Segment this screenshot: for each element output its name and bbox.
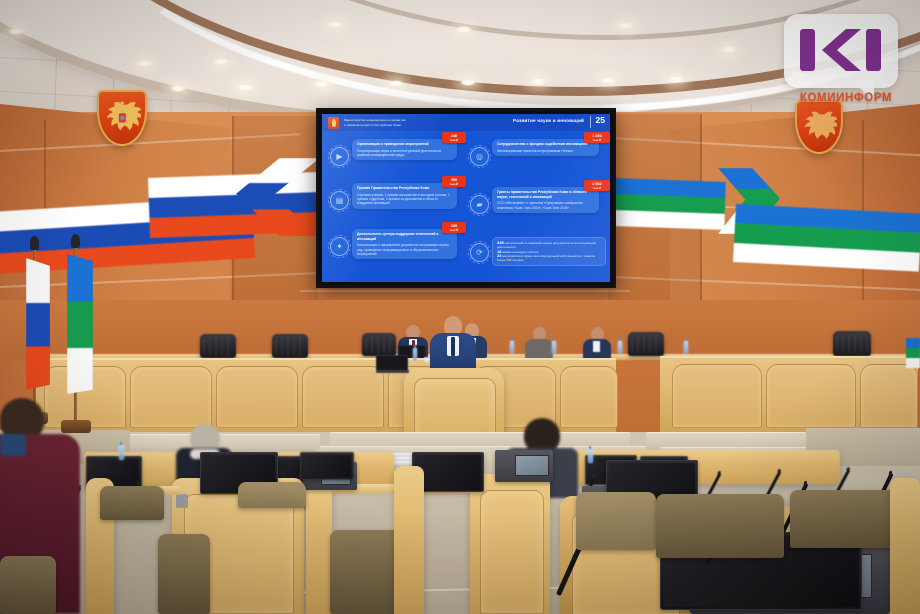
slide-card: Премия Правительства Республики Коми 3 п… <box>352 183 457 209</box>
person-head <box>524 418 560 452</box>
ceiling-downlight <box>213 58 229 65</box>
card-heading: Сотрудничество с фондом содействия иннов… <box>497 142 595 147</box>
ceiling-downlight <box>237 84 253 91</box>
conference-mic-unit <box>495 450 553 482</box>
slide-card: Организация и проведение мероприятий Поп… <box>352 139 457 160</box>
card-amount-badge: 100 тыс.₽ <box>442 222 466 233</box>
session-hall-photo: Министерство экономического развития и п… <box>0 0 920 614</box>
double-headed-eagle-icon <box>801 107 838 144</box>
presidium-panel <box>130 366 212 428</box>
stat-number: 22 <box>497 253 501 258</box>
card-amount-badge: 1 500 тыс.₽ <box>584 132 610 143</box>
megaphone-icon: ▶ <box>330 147 349 166</box>
delegate-seat <box>158 534 210 614</box>
ceiling-downlight <box>460 79 476 86</box>
card-subtext: Популяризация науки и интеллектуальной д… <box>357 149 453 158</box>
stat-tail: человек <box>512 258 523 262</box>
presidium-panel <box>766 364 856 428</box>
slide: Министерство экономического развития и п… <box>322 114 610 282</box>
ceiling-downlight <box>170 85 186 92</box>
slide-page-number: 25 <box>596 115 605 125</box>
wall-seam <box>300 290 630 292</box>
double-headed-eagle-icon <box>103 97 142 136</box>
people-icon: ✦ <box>330 237 349 256</box>
badge-unit: тыс.₽ <box>586 138 608 142</box>
slide-title: Развитие науки и инноваций <box>513 118 584 123</box>
slide-body: ▶ Организация и проведение мероприятий П… <box>322 131 610 282</box>
water-glass <box>424 357 429 362</box>
slide-card: Деятельность центра поддержки технологий… <box>352 229 457 259</box>
delegate-seat <box>0 556 56 614</box>
ceiling-downlight <box>618 22 634 29</box>
foreground-desk-panel <box>480 490 544 614</box>
slide-header: Министерство экономического развития и п… <box>322 114 610 131</box>
painted-flag-of-komi-left-seg <box>612 178 726 230</box>
water-bottle <box>588 449 593 463</box>
ministry-logo-icon <box>328 117 339 129</box>
aisle-divider-post <box>394 466 424 614</box>
presidium-person <box>524 327 554 357</box>
stat-number: 335 <box>497 240 504 245</box>
coins-icon: ◎ <box>470 147 489 166</box>
person-torso <box>525 339 553 359</box>
ceiling-downlight <box>327 21 343 28</box>
ceiling-downlight <box>456 26 472 33</box>
slide-card: Гранты правительства Республики Коми в о… <box>492 187 599 213</box>
flag-of-russia-cloth <box>26 258 50 390</box>
presidium-panel <box>860 364 918 428</box>
speaker-at-rostrum <box>430 316 476 372</box>
badge-unit: тыс.₽ <box>586 186 608 190</box>
slide-card: Сотрудничество с фондом содействия иннов… <box>492 139 599 156</box>
stat-row: 22 мероприятия в сфере интеллектуальной … <box>497 254 601 263</box>
delegate-seat <box>238 482 306 508</box>
watermark: КОМИИНФОРМ <box>784 14 908 110</box>
support-center-icon: ⟳ <box>470 243 489 262</box>
flagpole-finial-icon <box>30 236 39 250</box>
presidium-chair <box>272 334 308 358</box>
card-heading: Премия Правительства Республики Коми <box>357 186 453 191</box>
presidium-chair <box>362 333 396 356</box>
presidium-panel <box>672 364 762 428</box>
ceiling-downlight <box>600 77 616 84</box>
delegate-monitor <box>300 452 354 480</box>
ceiling-downlight <box>137 60 153 67</box>
card-subtext: Консультации и оформление документов на … <box>357 243 453 256</box>
card-amount-badge: 300 тыс.₽ <box>442 176 466 187</box>
delegate-seat <box>576 492 656 550</box>
water-bottle <box>684 341 688 354</box>
graduation-cap-icon: ▰ <box>470 195 489 214</box>
water-bottle <box>552 341 556 354</box>
ceiling-downlight <box>721 46 737 53</box>
presidium-person <box>582 327 612 357</box>
painted-flag-of-komi-right-seg <box>733 204 920 272</box>
card-subtext: 3 премии ученым, 1 премия аспирантам и м… <box>357 193 453 206</box>
card-heading: Гранты правительства Республики Коми в о… <box>497 190 595 199</box>
badge-unit: тыс.₽ <box>444 228 464 232</box>
delegate-seat <box>100 486 164 520</box>
ceiling-downlight <box>530 78 546 85</box>
flag-of-komi-small <box>906 338 920 368</box>
watermark-brand: КОМИИНФОРМ <box>788 92 904 104</box>
water-bottle <box>510 341 514 354</box>
ceiling-downlight <box>314 81 330 88</box>
badge-unit: тыс.₽ <box>444 182 464 186</box>
ceiling-downlight <box>8 28 24 35</box>
aisle-divider-post <box>890 478 920 614</box>
conference-unit-display <box>515 455 549 476</box>
desk-power-outlet <box>176 494 188 508</box>
ceiling-downlight <box>388 80 404 87</box>
presidium-panel <box>302 366 384 428</box>
person-shirt <box>593 341 600 352</box>
presidium-chair <box>833 331 871 356</box>
delegate-seat <box>656 494 784 558</box>
flagpole-finial-icon <box>71 234 80 248</box>
dais-step <box>330 432 630 447</box>
stat-row: 335 консультаций по правовой охране резу… <box>497 241 601 250</box>
ministry-name: Министерство экономического развития и п… <box>344 118 405 126</box>
presidium-chair <box>200 334 236 358</box>
flag-of-komi-cloth <box>67 254 93 394</box>
card-amount-badge: 240 тыс.₽ <box>442 132 466 143</box>
ceiling-downlight <box>668 76 684 83</box>
water-bottle <box>618 341 622 354</box>
card-heading: Организация и проведение мероприятий <box>357 142 453 147</box>
stat-text: консультаций по правовой охране результа… <box>497 241 596 249</box>
certificate-icon: ▤ <box>330 191 349 210</box>
card-amount-badge: 3 502 тыс.₽ <box>584 180 610 191</box>
rostrum-laptop <box>376 355 408 371</box>
person-shirt-collar <box>0 434 26 456</box>
water-bottle <box>413 348 417 361</box>
foreground-desk-center <box>306 476 332 614</box>
stat-highlight: 700 <box>506 258 511 262</box>
presidium-chair <box>628 332 664 356</box>
presidium-panel <box>216 366 298 428</box>
presentation-screen: Министерство экономического развития и п… <box>316 108 616 288</box>
card-heading: Деятельность центра поддержки технологий… <box>357 232 453 241</box>
water-bottle <box>119 445 124 460</box>
dais-step <box>646 432 806 448</box>
slide-stats-box: 335 консультаций по правовой охране резу… <box>492 237 606 266</box>
card-subtext: Финансирование проектов по программам «У… <box>497 149 595 153</box>
card-subtext: ООО «Интерфейс» с проектом «Программно-а… <box>497 201 595 210</box>
badge-unit: тыс.₽ <box>444 138 464 142</box>
speaker-tie <box>451 337 455 356</box>
ki-logo-icon <box>798 27 884 73</box>
